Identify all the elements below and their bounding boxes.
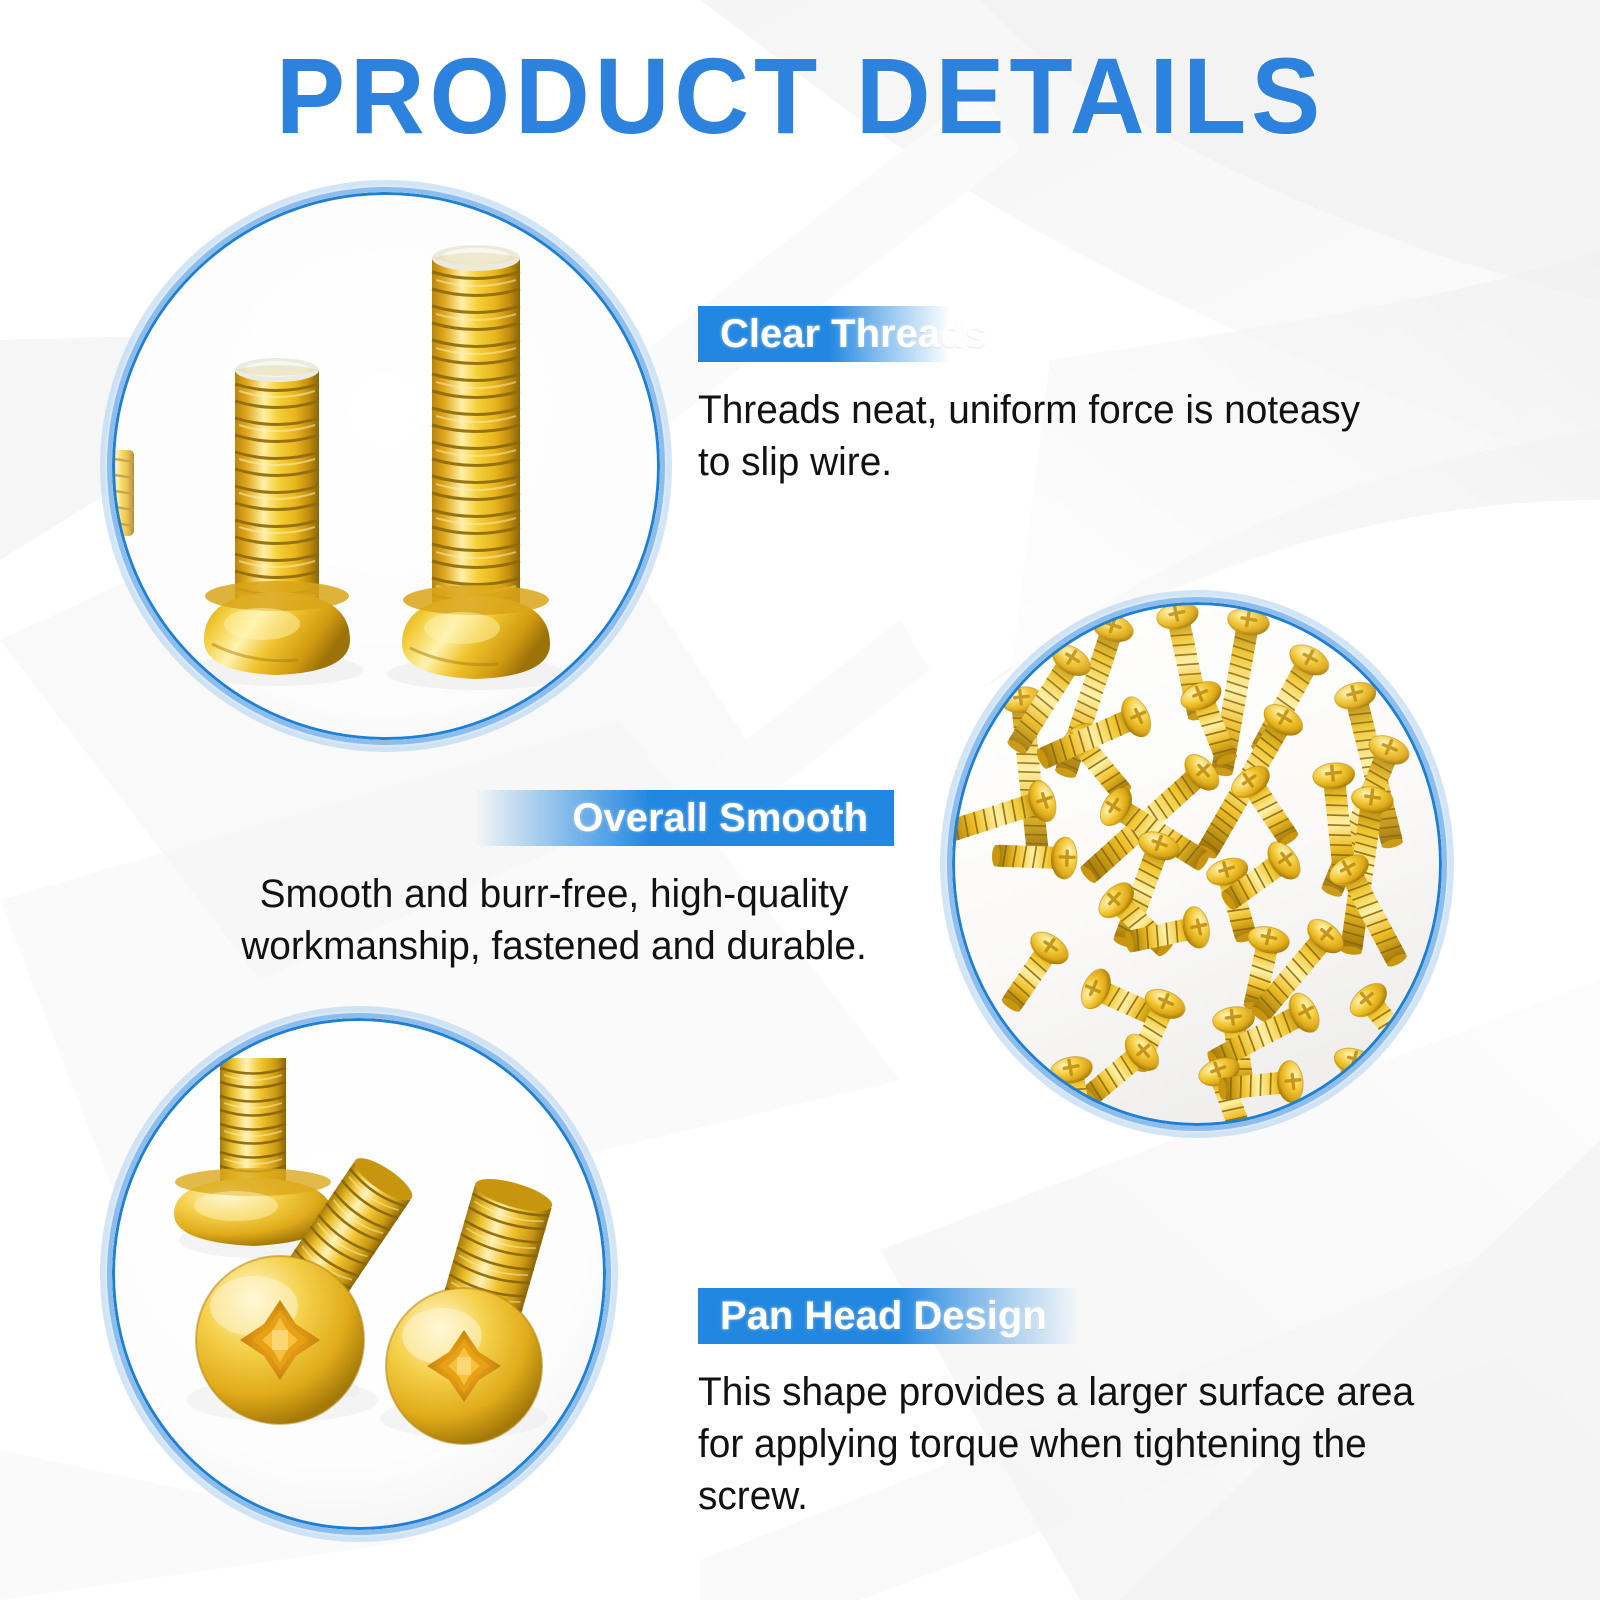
feature-label-text: Overall Smooth	[572, 798, 868, 838]
feature-label-clear-threads: Clear Threads	[698, 306, 950, 362]
page-title-container: PRODUCT DETAILS	[0, 42, 1600, 150]
feature-clear-threads: Clear Threads Threads neat, uniform forc…	[698, 306, 1468, 488]
page-title: PRODUCT DETAILS	[275, 42, 1324, 150]
pan-head-photo	[112, 1018, 606, 1530]
photo-circle-screw-pile	[952, 602, 1442, 1126]
feature-pan-head-design: Pan Head Design This shape provides a la…	[698, 1288, 1498, 1522]
feature-label-overall-smooth: Overall Smooth	[474, 790, 894, 846]
feature-overall-smooth: Overall Smooth Smooth and burr-free, hig…	[214, 790, 894, 972]
feature-body-pan-head-design: This shape provides a larger surface are…	[698, 1366, 1474, 1522]
screw-pile-photo	[952, 602, 1442, 1126]
photo-circle-clear-threads	[112, 192, 660, 740]
photo-circle-pan-head	[112, 1018, 606, 1530]
product-details-infographic: PRODUCT DETAILS	[0, 0, 1600, 1600]
feature-label-text: Pan Head Design	[720, 1296, 1047, 1336]
feature-body-overall-smooth: Smooth and burr-free, high-quality workm…	[224, 868, 884, 972]
screw-threads-photo	[112, 192, 660, 740]
feature-label-text: Clear Threads	[720, 314, 987, 354]
feature-body-clear-threads: Threads neat, uniform force is noteasy t…	[698, 384, 1445, 488]
feature-label-pan-head-design: Pan Head Design	[698, 1288, 1080, 1344]
